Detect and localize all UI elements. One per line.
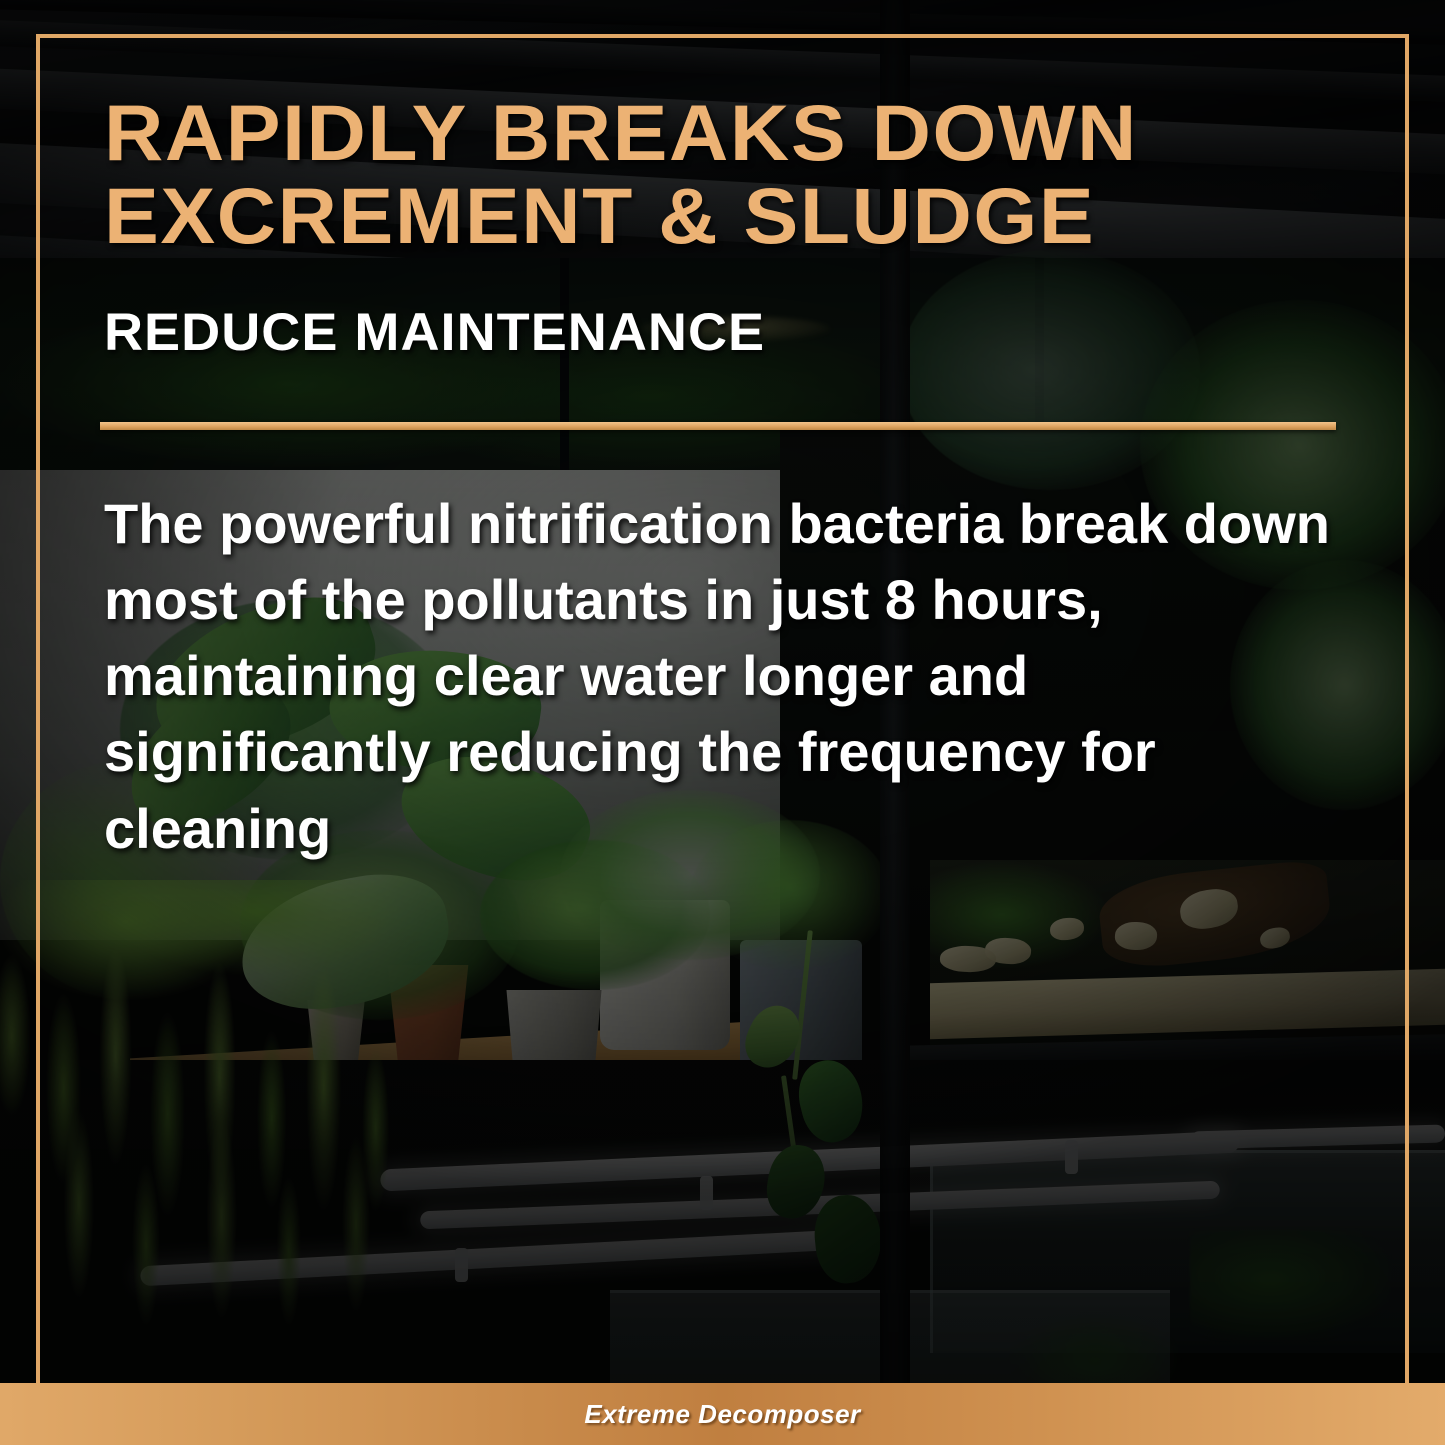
body-paragraph: The powerful nitrification bacteria brea…: [104, 486, 1344, 867]
subheading: REDUCE MAINTENANCE: [104, 302, 765, 363]
product-feature-poster: RAPIDLY BREAKS DOWN EXCREMENT & SLUDGE R…: [0, 0, 1445, 1445]
poster-content: RAPIDLY BREAKS DOWN EXCREMENT & SLUDGE R…: [0, 0, 1445, 1445]
page-title: RAPIDLY BREAKS DOWN EXCREMENT & SLUDGE: [104, 92, 1394, 258]
divider-rule: [100, 422, 1336, 430]
product-name-label: Extreme Decomposer: [584, 1399, 860, 1430]
footer-bar: Extreme Decomposer: [0, 1383, 1445, 1445]
